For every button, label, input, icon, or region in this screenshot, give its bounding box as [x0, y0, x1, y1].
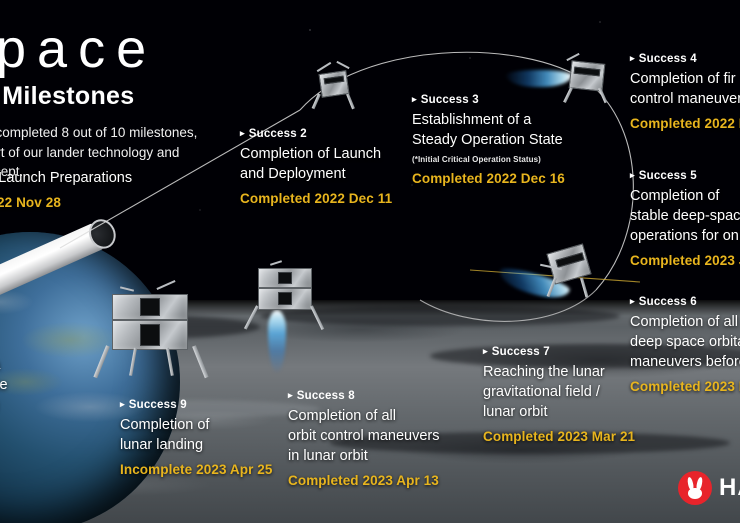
milestone-8-status: Completed 2023 Apr 13: [288, 473, 488, 488]
milestone-2[interactable]: ▸Success 2 Completion of Launch and Depl…: [240, 128, 420, 206]
milestone-1[interactable]: 1 on of Launch Preparations ed 2022 Nov …: [0, 152, 192, 210]
milestone-7-heading: ▸Success 7: [483, 346, 663, 358]
rabbit-icon: [678, 471, 712, 505]
triangle-marker-icon: ▸: [483, 346, 488, 357]
triangle-marker-icon: ▸: [630, 53, 635, 64]
logo-wordmark: HAK: [719, 474, 740, 502]
milestone-4-heading: ▸Success 4: [630, 53, 740, 65]
brand-wordmark: space: [0, 22, 288, 76]
milestone-8-heading: ▸Success 8: [288, 390, 488, 402]
milestone-4-status: Completed 2022 D: [630, 116, 740, 131]
milestone-9[interactable]: ▸Success 9 Completion of lunar landing I…: [120, 399, 300, 477]
triangle-marker-icon: ▸: [630, 296, 635, 307]
milestone-1-heading: 1: [0, 152, 192, 164]
milestone-3[interactable]: ▸Success 3 Establishment of a Steady Ope…: [412, 94, 617, 186]
milestone-1-status: ed 2022 Nov 28: [0, 195, 192, 210]
hakuto-logo[interactable]: HAK: [678, 471, 740, 505]
milestone-3-note: (*Initial Critical Operation Status): [412, 155, 617, 164]
milestone-10[interactable]: ent of a em state landing: [0, 355, 102, 415]
lander-landed-icon: [100, 282, 220, 392]
milestone-2-body: Completion of Launch and Deployment: [240, 144, 420, 184]
milestone-5[interactable]: ▸Success 5 Completion of stable deep-spa…: [630, 170, 740, 268]
milestone-9-heading: ▸Success 9: [120, 399, 300, 411]
spacecraft-cruise-icon: [306, 58, 366, 112]
milestone-3-body: Establishment of a Steady Operation Stat…: [412, 110, 617, 150]
milestone-9-status: Incomplete 2023 Apr 25: [120, 462, 300, 477]
milestone-10-body: ent of a em state landing: [0, 355, 102, 415]
spacecraft-lunar-orbit-icon: [524, 238, 624, 318]
page-title: n 1 Milestones: [0, 82, 288, 111]
milestone-1-body: on of Launch Preparations: [0, 168, 192, 188]
triangle-marker-icon: ▸: [120, 399, 125, 410]
milestone-5-body: Completion of stable deep-space operatio…: [630, 186, 740, 246]
milestone-2-status: Completed 2022 Dec 11: [240, 191, 420, 206]
milestone-8[interactable]: ▸Success 8 Completion of all orbit contr…: [288, 390, 488, 488]
triangle-marker-icon: ▸: [240, 128, 245, 139]
milestone-7-status: Completed 2023 Mar 21: [483, 429, 663, 444]
milestone-4-body: Completion of fir control maneuver: [630, 69, 740, 109]
milestone-7[interactable]: ▸Success 7 Reaching the lunar gravitatio…: [483, 346, 663, 444]
lander-descent-icon: [250, 262, 350, 372]
milestone-4[interactable]: ▸Success 4 Completion of fir control man…: [630, 53, 740, 131]
milestone-3-heading: ▸Success 3: [412, 94, 617, 106]
milestone-7-body: Reaching the lunar gravitational field /…: [483, 362, 663, 422]
milestone-5-status: Completed 2023 J: [630, 253, 740, 268]
triangle-marker-icon: ▸: [630, 170, 635, 181]
milestone-2-heading: ▸Success 2: [240, 128, 420, 140]
milestone-5-heading: ▸Success 5: [630, 170, 740, 182]
milestone-3-status: Completed 2022 Dec 16: [412, 171, 617, 186]
infographic-canvas: space n 1 Milestones ready completed 8 o…: [0, 0, 740, 523]
milestone-6-heading: ▸Success 6: [630, 296, 740, 308]
triangle-marker-icon: ▸: [412, 94, 417, 105]
milestone-9-body: Completion of lunar landing: [120, 415, 300, 455]
milestone-8-body: Completion of all orbit control maneuver…: [288, 406, 488, 466]
